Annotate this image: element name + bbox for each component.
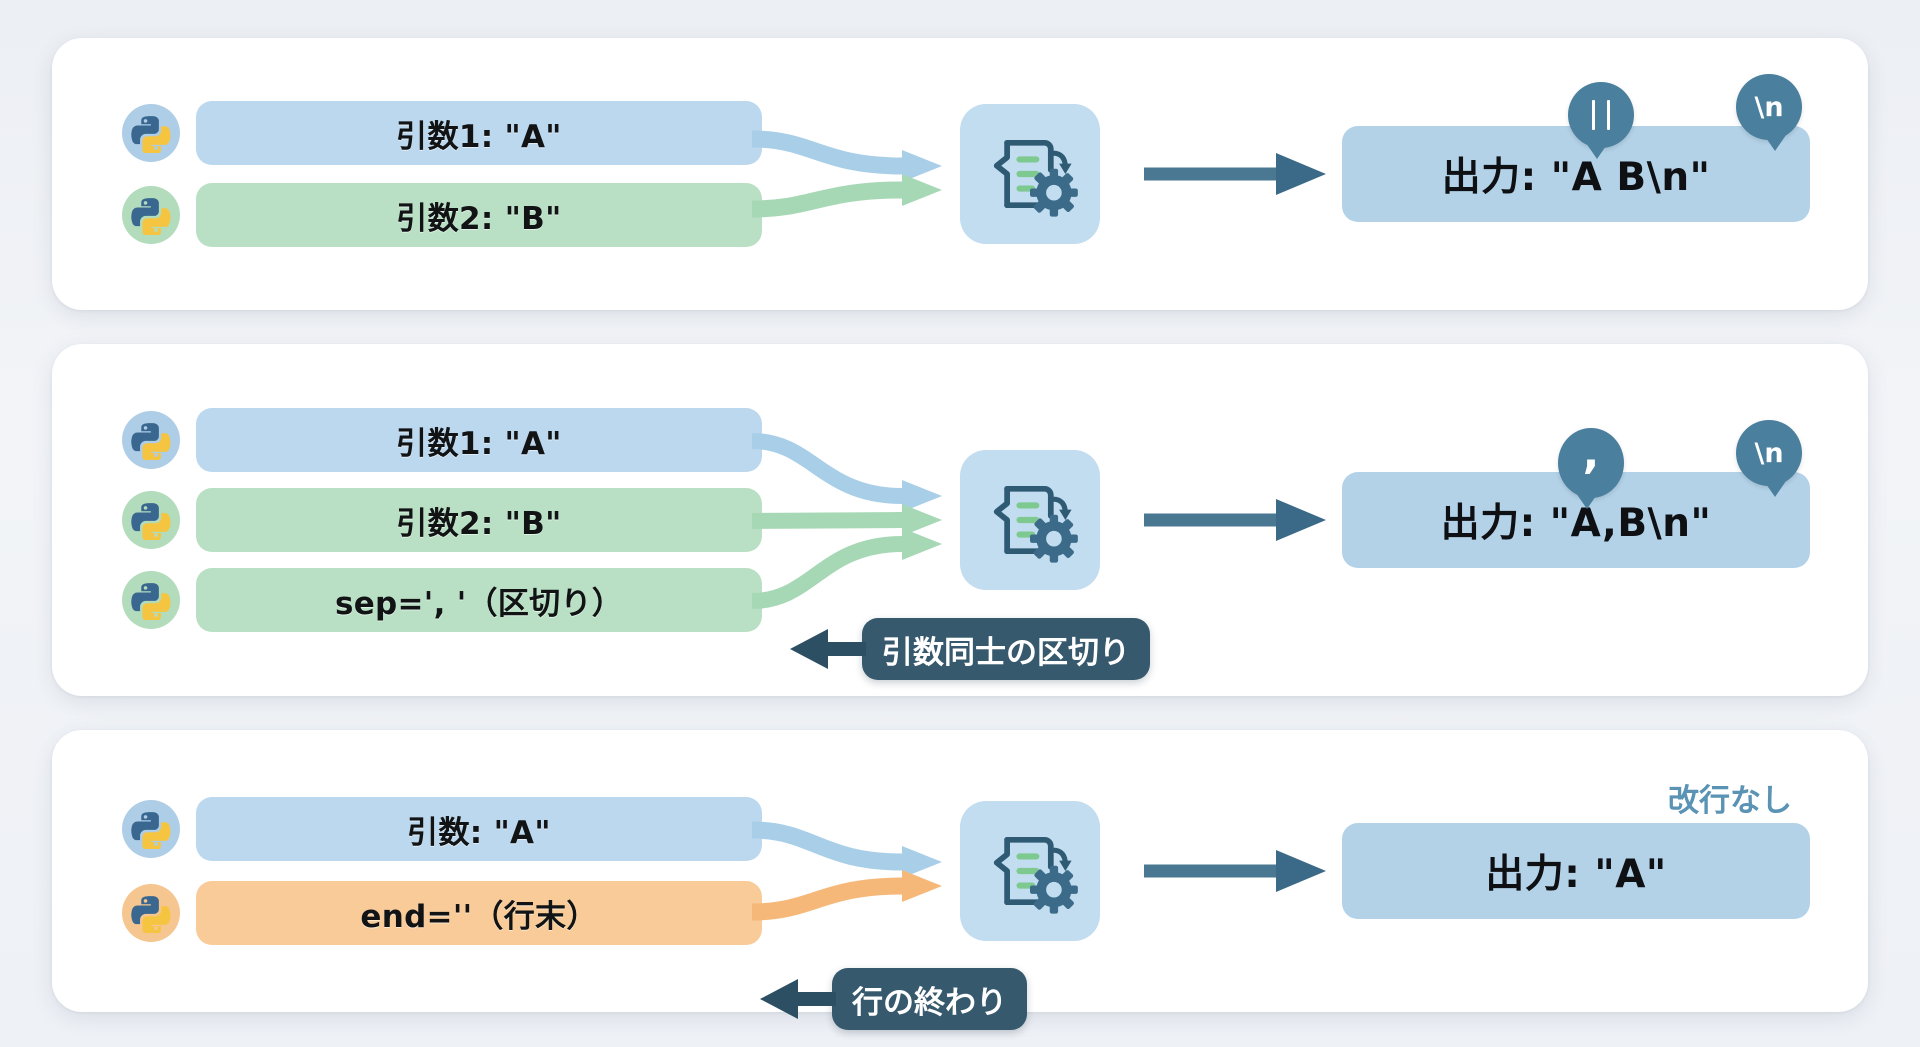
- output-box: 出力: "A": [1342, 823, 1810, 919]
- newline-bubble: \n: [1736, 74, 1802, 140]
- comma-bubble-label: ,: [1583, 432, 1600, 476]
- inputs-end: 引数: "A" end=''（行末）: [122, 730, 762, 1012]
- python-icon: [122, 884, 180, 942]
- python-icon: [122, 411, 180, 469]
- python-icon: [122, 571, 180, 629]
- input-row: 引数1: "A": [122, 101, 762, 165]
- python-icon: [122, 104, 180, 162]
- no-newline-note: 改行なし: [1668, 775, 1792, 820]
- output-area: 改行なし 出力: "A": [1342, 823, 1810, 919]
- input-row: 引数1: "A": [122, 408, 762, 472]
- output-arrow-icon: [1142, 151, 1328, 197]
- inputs-default: 引数1: "A" 引数2: "B": [122, 38, 762, 310]
- diagram-canvas: 引数1: "A" 引数2: "B": [0, 0, 1920, 1047]
- flow-sep: 引数1: "A" 引数2: "B": [52, 344, 1868, 696]
- space-marker-bubble: [1568, 82, 1634, 148]
- space-marker-glyph: [1592, 100, 1610, 130]
- newline-bubble: \n: [1736, 420, 1802, 486]
- comma-bubble: ,: [1558, 428, 1624, 498]
- callout-pointer-arrow-icon: [758, 976, 838, 1022]
- input-pill-label: 引数: "A": [196, 797, 762, 861]
- output-label: 出力: "A": [1485, 843, 1667, 899]
- row-card-default: 引数1: "A" 引数2: "B": [52, 38, 1868, 310]
- document-gear-process-icon: [960, 801, 1100, 941]
- newline-bubble-label: \n: [1754, 440, 1783, 467]
- input-pill-label: 引数1: "A": [196, 101, 762, 165]
- callout-end: 行の終わり: [832, 968, 1027, 1030]
- callout-sep-label: 引数同士の区切り: [882, 627, 1130, 672]
- callout-sep: 引数同士の区切り: [862, 618, 1150, 680]
- row-card-end: 引数: "A" end=''（行末）: [52, 730, 1868, 1012]
- input-row: 引数2: "B": [122, 488, 762, 552]
- inputs-sep: 引数1: "A" 引数2: "B": [122, 344, 762, 696]
- python-icon: [122, 800, 180, 858]
- callout-pointer-arrow-icon: [788, 626, 868, 672]
- input-pill-label: 引数2: "B": [196, 488, 762, 552]
- output-area: \n 出力: "A B\n": [1342, 126, 1810, 222]
- input-pill-label: 引数2: "B": [196, 183, 762, 247]
- row-card-sep: 引数1: "A" 引数2: "B": [52, 344, 1868, 696]
- input-pill-label: sep=', '（区切り）: [196, 568, 762, 632]
- input-row: end=''（行末）: [122, 881, 762, 945]
- input-row: 引数: "A": [122, 797, 762, 861]
- callout-end-label: 行の終わり: [852, 977, 1007, 1022]
- flow-end: 引数: "A" end=''（行末）: [52, 730, 1868, 1012]
- document-gear-process-icon: [960, 450, 1100, 590]
- newline-bubble-label: \n: [1754, 94, 1783, 121]
- connector-arrows: [752, 38, 982, 310]
- output-box: 出力: "A B\n": [1342, 126, 1810, 222]
- output-arrow-icon: [1142, 848, 1328, 894]
- output-label: 出力: "A B\n": [1442, 146, 1711, 202]
- input-pill-label: 引数1: "A": [196, 408, 762, 472]
- output-arrow-icon: [1142, 497, 1328, 543]
- input-row: sep=', '（区切り）: [122, 568, 762, 632]
- flow-default: 引数1: "A" 引数2: "B": [52, 38, 1868, 310]
- python-icon: [122, 186, 180, 244]
- python-icon: [122, 491, 180, 549]
- input-row: 引数2: "B": [122, 183, 762, 247]
- output-area: , \n 出力: "A,B\n": [1342, 472, 1810, 568]
- input-pill-label: end=''（行末）: [196, 881, 762, 945]
- document-gear-process-icon: [960, 104, 1100, 244]
